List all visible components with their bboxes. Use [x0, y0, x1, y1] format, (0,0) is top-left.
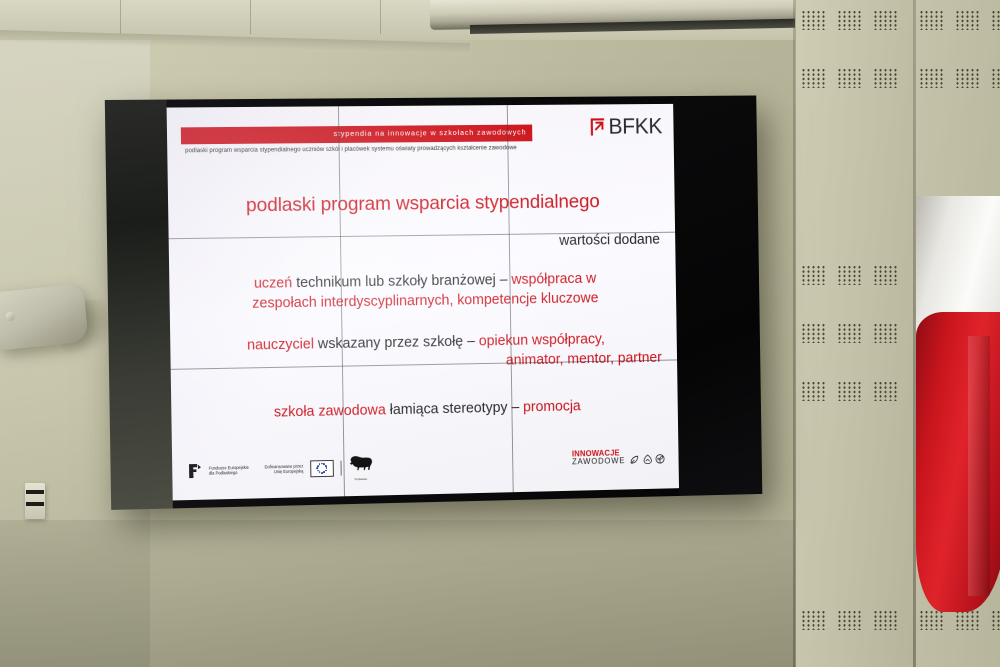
perforation-block: [873, 381, 899, 401]
hand-circle-icon: [642, 451, 653, 462]
slide-title: podlaski program wsparcia stypendialnego: [168, 190, 675, 219]
perforation-block: [873, 265, 899, 285]
polish-flag: [916, 196, 1000, 626]
perforation-block: [955, 10, 981, 30]
bullet-text: wskazany przez szkołę –: [314, 334, 479, 353]
perforation-block: [991, 68, 1000, 88]
perforation-block: [919, 68, 945, 88]
bullet-text: łamiąca stereotypy –: [386, 400, 524, 419]
fundusze-europejskie-icon: [188, 463, 202, 479]
bison-icon: [348, 458, 374, 475]
panel-seam: [793, 0, 796, 667]
innowacje-zawodowe-logo: INNOWACJE ZAWODOWE: [572, 449, 626, 466]
header-subtitle: podlaski program wsparcia stypendialnego…: [185, 144, 517, 154]
wall-lower-shadow: [0, 520, 800, 667]
room-photo: stypendia na innowacje w szkołach zawodo…: [0, 0, 1000, 667]
eu-star: [326, 467, 328, 469]
bullet-value: opiekun współpracy,: [479, 331, 605, 349]
bullet-keyword: uczeń: [254, 275, 293, 291]
eu-star: [321, 472, 323, 474]
perforation-block: [873, 323, 899, 343]
eu-star: [317, 470, 319, 472]
perforation-block: [801, 68, 827, 88]
bullet-block-student: uczeń technikum lub szkoły branżowej – w…: [187, 268, 661, 315]
bfkk-arrow-icon: [587, 117, 606, 137]
eu-star: [325, 470, 327, 472]
video-wall-screen[interactable]: stypendia na innowacje w szkołach zawodo…: [167, 104, 679, 501]
bullet-value: współpraca w: [511, 271, 596, 288]
perforation-block: [991, 10, 1000, 30]
eu-star: [317, 465, 319, 467]
perforation-block: [801, 10, 827, 30]
eu-funding-text: Dofinansowane przez Unię Europejską: [265, 463, 304, 475]
flag-fold: [968, 336, 990, 596]
slide-body: uczeń technikum lub szkoły branżowej – w…: [187, 268, 663, 424]
perforation-block: [837, 381, 863, 401]
bullet-value: promocja: [523, 398, 581, 415]
footer-logo-innowacje: INNOWACJE ZAWODOWE: [572, 448, 666, 466]
presentation-slide: stypendia na innowacje w szkołach zawodo…: [167, 104, 679, 501]
header-red-banner: stypendia na innowacje w szkołach zawodo…: [181, 125, 533, 145]
light-switch[interactable]: [25, 483, 45, 519]
video-wall-bezel-right: [673, 96, 762, 496]
tree-circle-icon: [655, 451, 666, 462]
bullet-block-school: szkoła zawodowa łamiąca stereotypy – pro…: [189, 395, 663, 424]
bullet-keyword: nauczyciel: [247, 336, 314, 353]
bfkk-logo: BFKK: [587, 116, 662, 138]
header-banner-text: stypendia na innowacje w szkołach zawodo…: [333, 127, 526, 137]
perforation-block: [801, 323, 827, 343]
footer-divider: [340, 460, 341, 475]
perforation-block: [801, 381, 827, 401]
perforation-block: [919, 10, 945, 30]
perforation-block: [873, 610, 899, 630]
footer-logos-left: Fundusze Europejskie dla Podlaskiego Dof…: [188, 454, 374, 485]
video-wall[interactable]: stypendia na innowacje w szkołach zawodo…: [105, 96, 763, 510]
perforation-block: [873, 10, 899, 30]
eu-line-2: Unię Europejską: [265, 469, 304, 475]
leaf-circle-icon: [629, 452, 640, 463]
bullet-keyword: szkoła zawodowa: [274, 402, 386, 420]
perforation-block: [837, 610, 863, 630]
video-wall-bezel-left: [105, 100, 173, 510]
fundusze-europejskie-text: Fundusze Europejskie dla Podlaskiego: [209, 465, 249, 477]
perforation-block: [873, 68, 899, 88]
innowacje-line-2: ZAWODOWE: [572, 457, 625, 466]
bullet-line: szkoła zawodowa łamiąca stereotypy – pro…: [189, 395, 663, 424]
perforation-block: [801, 610, 827, 630]
perforation-block: [837, 68, 863, 88]
bullet-block-teacher: nauczyciel wskazany przez szkołę – opiek…: [188, 328, 662, 376]
slide-header: stypendia na innowacje w szkołach zawodo…: [181, 122, 665, 172]
eu-star: [317, 468, 319, 470]
eu-flag-icon: [310, 460, 334, 477]
slide-footer: Fundusze Europejskie dla Podlaskiego Dof…: [188, 446, 666, 487]
perforation-block: [837, 10, 863, 30]
perforation-block: [955, 68, 981, 88]
eu-star: [323, 471, 325, 473]
podlaskie-bison-logo: Podlaskie: [348, 454, 374, 481]
bison-caption: Podlaskie: [348, 476, 373, 481]
slide-section-label: wartości dodane: [559, 232, 660, 249]
perforation-block: [837, 265, 863, 285]
acoustic-panel-left: [795, 0, 915, 667]
innowacje-icon-row: [629, 451, 665, 463]
perforation-block: [837, 323, 863, 343]
funds-line-2: dla Podlaskiego: [209, 470, 249, 476]
bfkk-logo-text: BFKK: [608, 116, 662, 138]
wall-speaker: [0, 283, 89, 350]
perforation-block: [801, 265, 827, 285]
bullet-text: technikum lub szkoły branżowej –: [292, 272, 511, 291]
